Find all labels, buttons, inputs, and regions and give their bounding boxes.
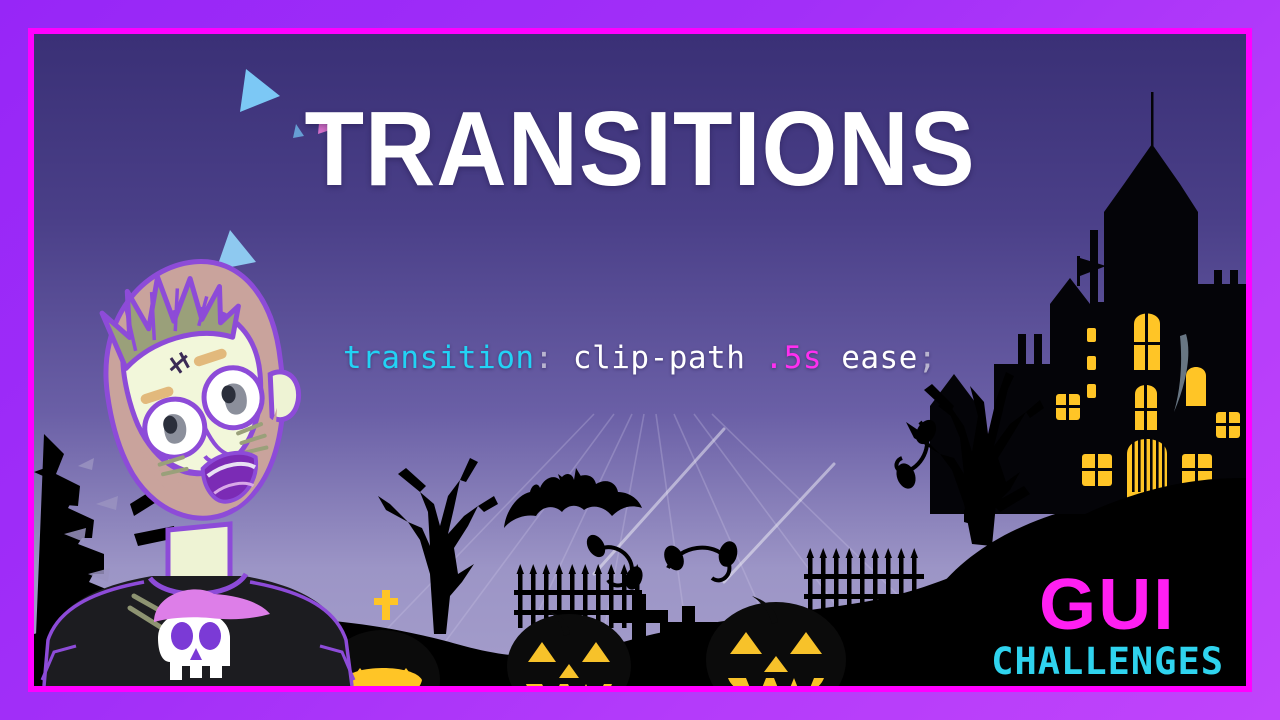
vine-center-leaves bbox=[583, 532, 740, 592]
head bbox=[91, 250, 314, 530]
logo-line-challenges: CHALLENGES bbox=[991, 643, 1224, 680]
presenter-avatar bbox=[34, 242, 364, 686]
cross-grave-small bbox=[374, 590, 398, 620]
vine-center bbox=[594, 547, 729, 585]
logo-line-gui: GUI bbox=[989, 569, 1226, 641]
thumbnail-stage: TRANSITIONS transition: clip-path .5s ea… bbox=[34, 34, 1246, 686]
dead-tree-center bbox=[378, 458, 498, 634]
gui-challenges-logo: GUI CHALLENGES bbox=[991, 569, 1224, 680]
neon-frame: TRANSITIONS transition: clip-path .5s ea… bbox=[28, 28, 1252, 692]
bat-silhouette bbox=[504, 468, 642, 528]
